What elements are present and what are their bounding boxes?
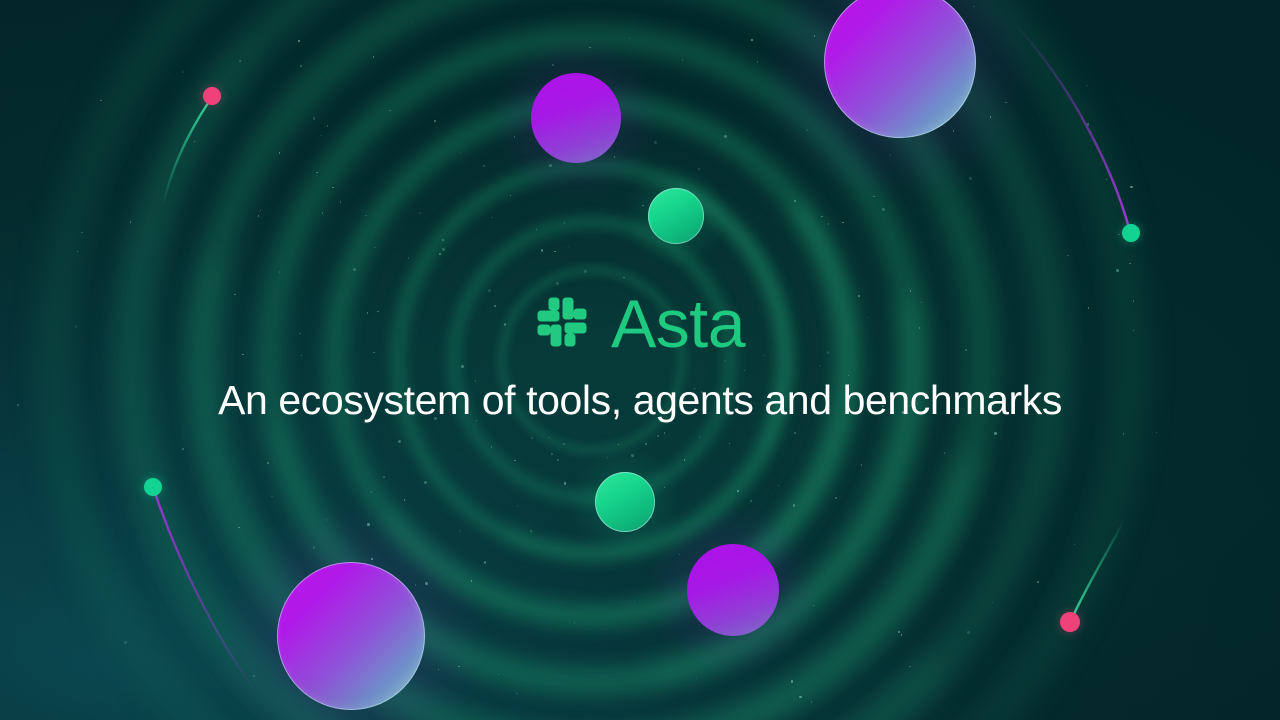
comet-bottom-left-dot bbox=[144, 478, 162, 496]
hero-tagline: An ecosystem of tools, agents and benchm… bbox=[0, 378, 1280, 424]
comet-top-left-trail bbox=[163, 100, 210, 205]
comet-top-right-trail bbox=[1013, 22, 1129, 228]
asta-hero-banner: Asta An ecosystem of tools, agents and b… bbox=[0, 0, 1280, 720]
brand-lockup: Asta bbox=[0, 290, 1280, 358]
brand-wordmark: Asta bbox=[611, 290, 745, 358]
comet-top-left-dot bbox=[203, 87, 221, 105]
comet-bottom-left-trail bbox=[155, 493, 262, 700]
comet-top-right-dot bbox=[1122, 224, 1140, 242]
comet-bottom-right-dot bbox=[1060, 612, 1080, 632]
comet-bottom-right-trail bbox=[1073, 520, 1124, 616]
asta-pinwheel-icon bbox=[535, 295, 589, 354]
